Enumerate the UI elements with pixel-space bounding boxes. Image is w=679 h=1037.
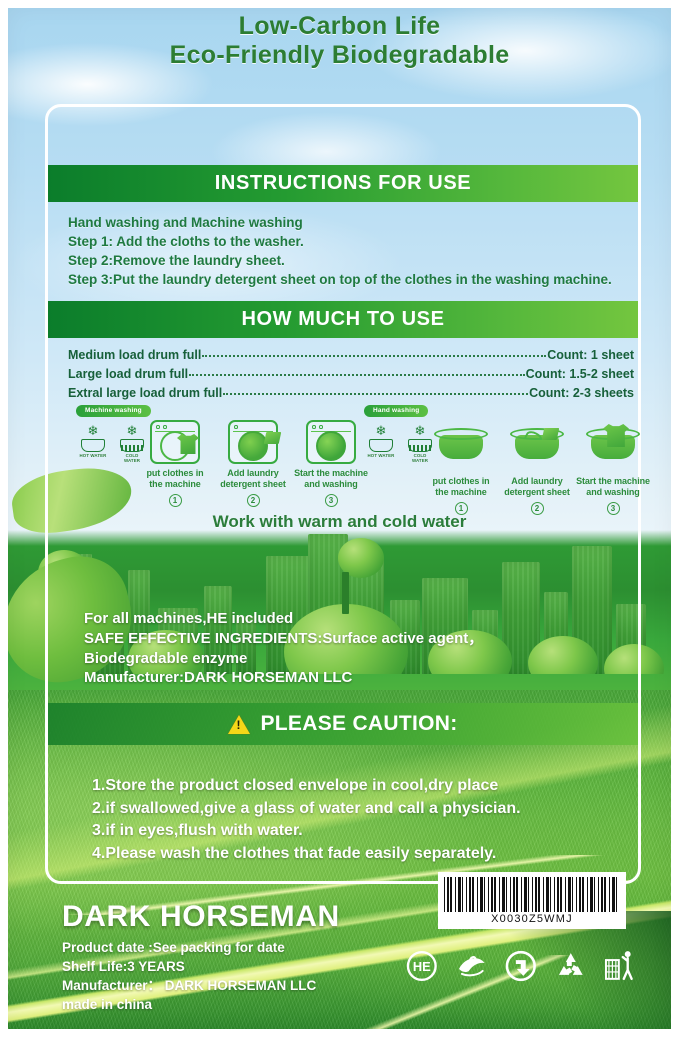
hot-water-icon-item: ❄ HOT WATER [366,424,396,463]
svg-text:HE: HE [413,959,431,974]
caution-banner: PLEASE CAUTION: [48,703,638,745]
dosage-value: Count: 1 sheet [547,346,634,365]
snowflake-icon: ❄ [78,424,108,438]
instruction-line: Hand washing and Machine washing [68,213,634,232]
dosage-row: Extral large load drum full Count: 2-3 s… [68,384,634,403]
dotted-leader [223,393,528,395]
ingredients-line: Biodegradable enzyme [84,649,624,669]
how-much-banner: HOW MUCH TO USE [48,301,638,338]
hand-step-2-label: Add laundrydetergent sheet [494,476,580,498]
dosage-row: Medium load drum full Count: 1 sheet [68,346,634,365]
caution-item: 3.if in eyes,flush with water. [92,820,632,843]
dosage-table: Medium load drum full Count: 1 sheet Lar… [68,346,634,403]
caution-item: 4.Please wash the clothes that fade easi… [92,843,632,866]
hand-washing-badge: Hand washing [364,405,428,417]
barcode: X0030Z5WMJ [438,872,626,929]
dosage-value: Count: 1.5-2 sheet [526,365,634,384]
washing-steps-diagram: Machine washing ❄ HOT WATER ❄ COLD WATER [62,404,638,514]
washer-start-icon [303,420,359,466]
machine-step-1: put clothes inthe machine 1 [132,420,218,508]
hand-step-3-label: Start the machineand washing [570,476,656,498]
caution-list: 1.Store the product closed envelope in c… [92,775,632,866]
hot-water-caption: HOT WATER [78,453,108,458]
caution-item: 2.if swallowed,give a glass of water and… [92,798,632,821]
dosage-row: Large load drum full Count: 1.5-2 sheet [68,365,634,384]
instructions-banner: INSTRUCTIONS FOR USE [48,165,638,202]
brand-meta-line: Product date :See packing for date [62,938,462,957]
caution-item: 1.Store the product closed envelope in c… [92,775,632,798]
wash-tub-icon [81,439,105,452]
dolphin-safe-icon [455,949,489,983]
dotted-leader [189,374,524,376]
machine-step-1-number: 1 [169,494,182,507]
hand-step-1-label: put clothes inthe machine [418,476,504,498]
machine-step-2-label: Add laundrydetergent sheet [210,468,296,490]
washer-clothes-icon [147,420,203,466]
barcode-value: X0030Z5WMJ [444,913,620,925]
how-much-banner-title: HOW MUCH TO USE [241,308,444,331]
package-header: Low-Carbon Life Eco-Friendly Biodegradab… [0,12,679,69]
brand-block: DARK HORSEMAN Product date :See packing … [62,900,462,1015]
dosage-label: Large load drum full [68,365,188,384]
dosage-label: Medium load drum full [68,346,201,365]
barcode-bars [444,877,620,912]
machine-step-2: Add laundrydetergent sheet 2 [210,420,296,508]
wash-tub-icon [369,439,393,452]
dispose-in-bin-icon [603,949,637,983]
washer-sheet-icon [225,420,281,466]
brand-meta-line: Shelf Life:3 YEARS [62,957,462,976]
hand-step-2: Add laundrydetergent sheet 2 [494,420,580,516]
ingredients-line: Manufacturer:DARK HORSEMAN LLC [84,668,624,688]
warning-triangle-icon [228,715,250,734]
instructions-body: Hand washing and Machine washing Step 1:… [68,213,634,290]
basin-clothes-icon [433,428,489,474]
certification-icon-row: HE [405,946,637,986]
machine-step-1-label: put clothes inthe machine [132,468,218,490]
header-title-line-1: Low-Carbon Life [0,12,679,41]
brand-name: DARK HORSEMAN [62,900,462,933]
dotted-leader [202,355,546,357]
instruction-line: Step 2:Remove the laundry sheet. [68,251,634,270]
machine-step-2-number: 2 [247,494,260,507]
brand-meta-line: Manufacturer： DARK HORSEMAN LLC [62,976,462,995]
basin-start-icon [585,428,641,474]
caution-banner-title: PLEASE CAUTION: [260,712,457,736]
machine-washing-group: Machine washing ❄ HOT WATER ❄ COLD WATER [70,404,358,514]
hot-water-icon-item: ❄ HOT WATER [78,424,108,463]
hand-step-1: put clothes inthe machine 1 [418,420,504,516]
dosage-label: Extral large load drum full [68,384,222,403]
water-temperature-note: Work with warm and cold water [0,512,679,532]
ingredients-line: For all machines,HE included [84,609,624,629]
hand-washing-group: Hand washing ❄ HOT WATER ❄ COLD WATER [358,404,638,514]
recycle-arrow-circle-icon [504,949,538,983]
snowflake-icon: ❄ [366,424,396,438]
ingredients-block: For all machines,HE included SAFE EFFECT… [84,609,624,688]
brand-meta: Product date :See packing for date Shelf… [62,938,462,1015]
ingredients-line: SAFE EFFECTIVE INGREDIENTS:Surface activ… [84,629,624,649]
dosage-value: Count: 2-3 sheets [529,384,634,403]
brand-meta-line: made in china [62,995,462,1014]
mobius-recycle-icon [554,949,588,983]
basin-sheet-icon [509,428,565,474]
he-certification-icon: HE [405,949,439,983]
header-title-line-2: Eco-Friendly Biodegradable [0,41,679,70]
instructions-banner-title: INSTRUCTIONS FOR USE [215,172,471,195]
instruction-line: Step 3:Put the laundry detergent sheet o… [68,270,634,289]
hand-step-3: Start the machineand washing 3 [570,420,656,516]
product-package-back-label: Low-Carbon Life Eco-Friendly Biodegradab… [0,0,679,1037]
instruction-line: Step 1: Add the cloths to the washer. [68,232,634,251]
hot-water-caption: HOT WATER [366,453,396,458]
machine-washing-badge: Machine washing [76,405,151,417]
machine-step-3-number: 3 [325,494,338,507]
